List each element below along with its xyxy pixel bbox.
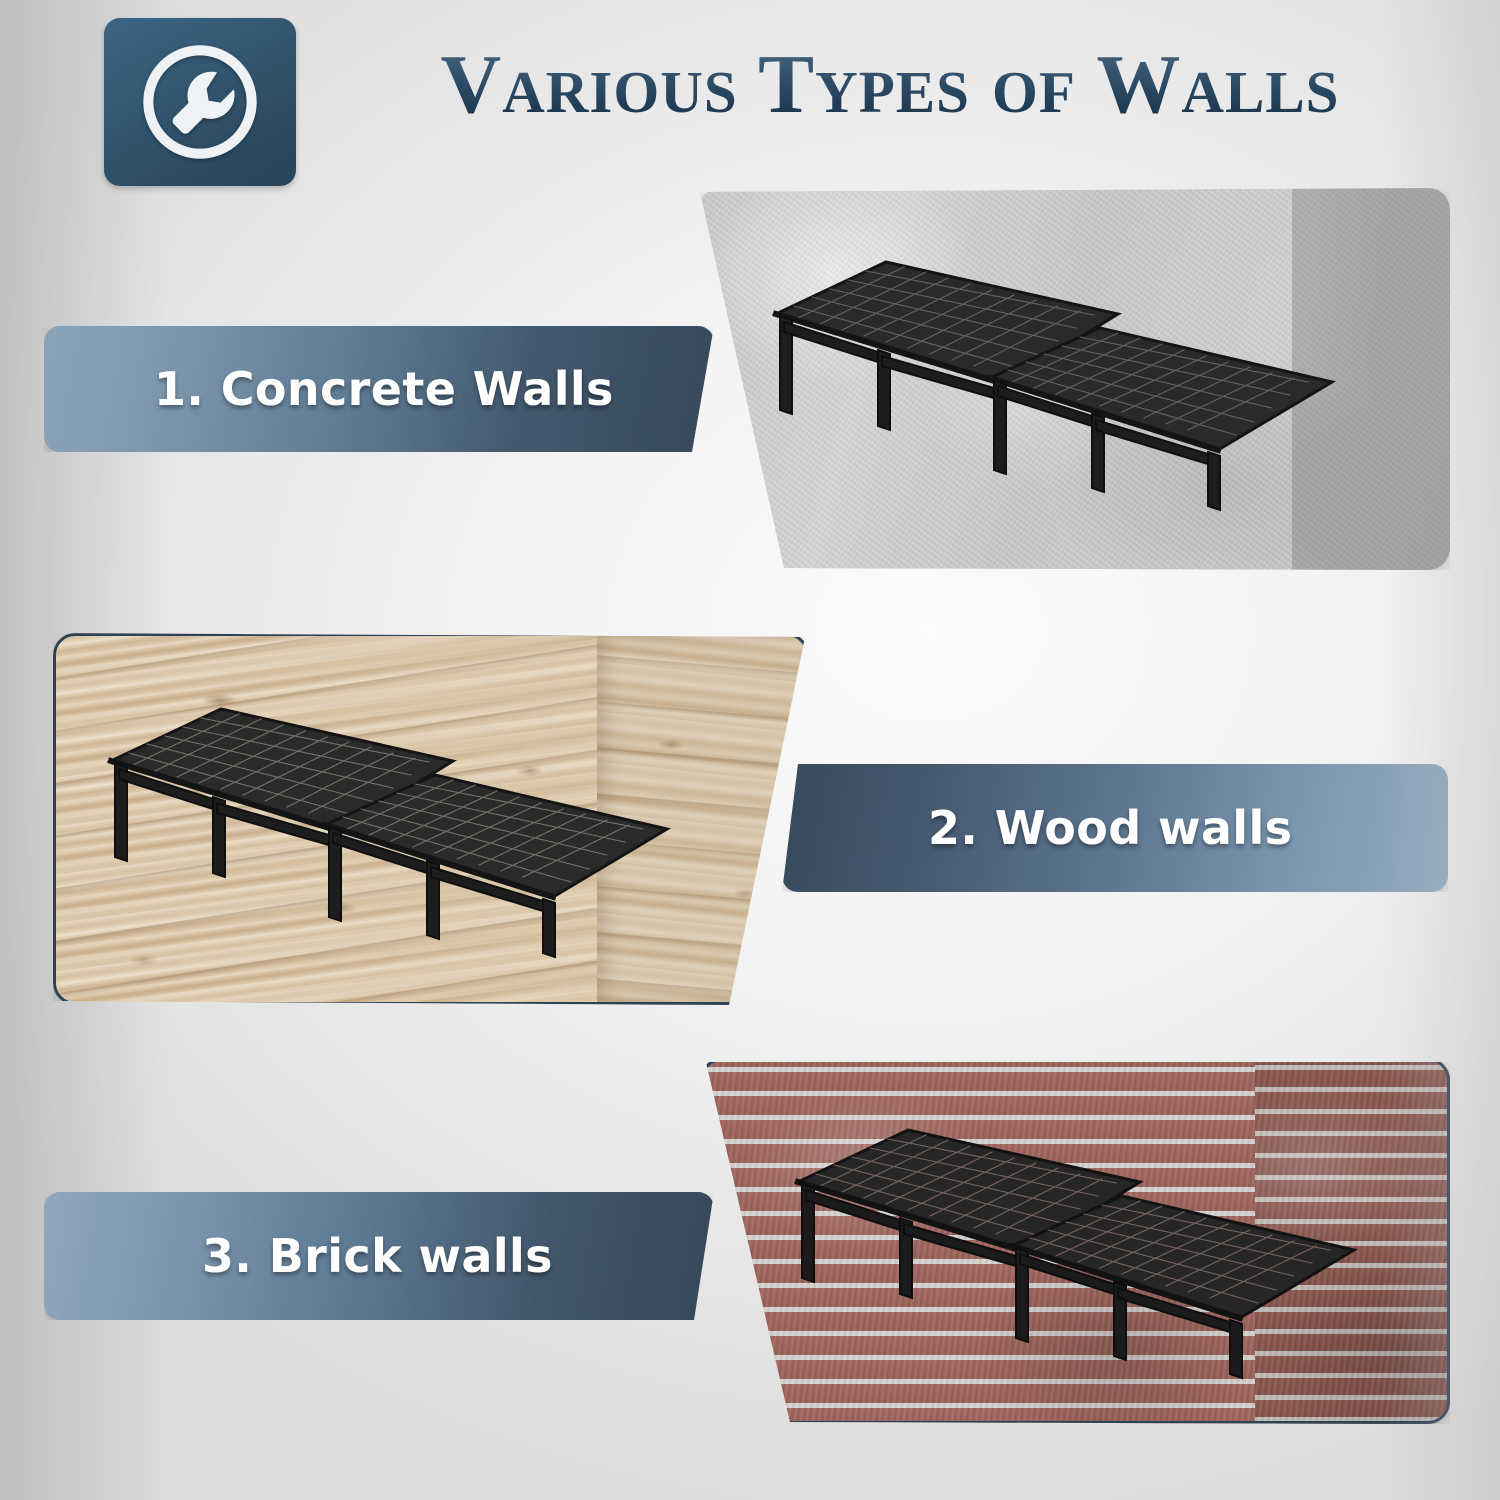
photo-wood-wall [53,633,809,1005]
concrete-wall-corner-panel [1292,188,1450,570]
banner-concrete-label: 1. Concrete Walls [154,326,614,452]
photo-concrete-inner [698,188,1450,570]
banner-brick-walls[interactable]: 3. Brick walls [44,1192,714,1320]
photo-brick-wall [700,1058,1450,1424]
photo-brick-inner [700,1058,1450,1424]
logo-badge [104,18,296,186]
wood-wall-corner-panel [597,633,809,1005]
brick-wall-corner-panel [1255,1058,1450,1424]
brick-wall-face [700,1058,1255,1424]
banner-wood-walls[interactable]: 2. Wood walls [782,764,1448,892]
banner-wood-label: 2. Wood walls [928,764,1292,892]
wrench-in-circle-icon [137,39,263,165]
infographic-page: Various Types of Walls Various Types of … [0,0,1500,1500]
page-title: Various Types of Walls [330,30,1450,140]
photo-wood-inner [53,633,809,1005]
banner-concrete-walls[interactable]: 1. Concrete Walls [44,326,714,452]
header: Various Types of Walls Various Types of … [0,0,1500,200]
banner-brick-label: 3. Brick walls [202,1192,553,1320]
photo-concrete-wall [698,188,1450,570]
brick-wall-texture [700,1058,1450,1424]
